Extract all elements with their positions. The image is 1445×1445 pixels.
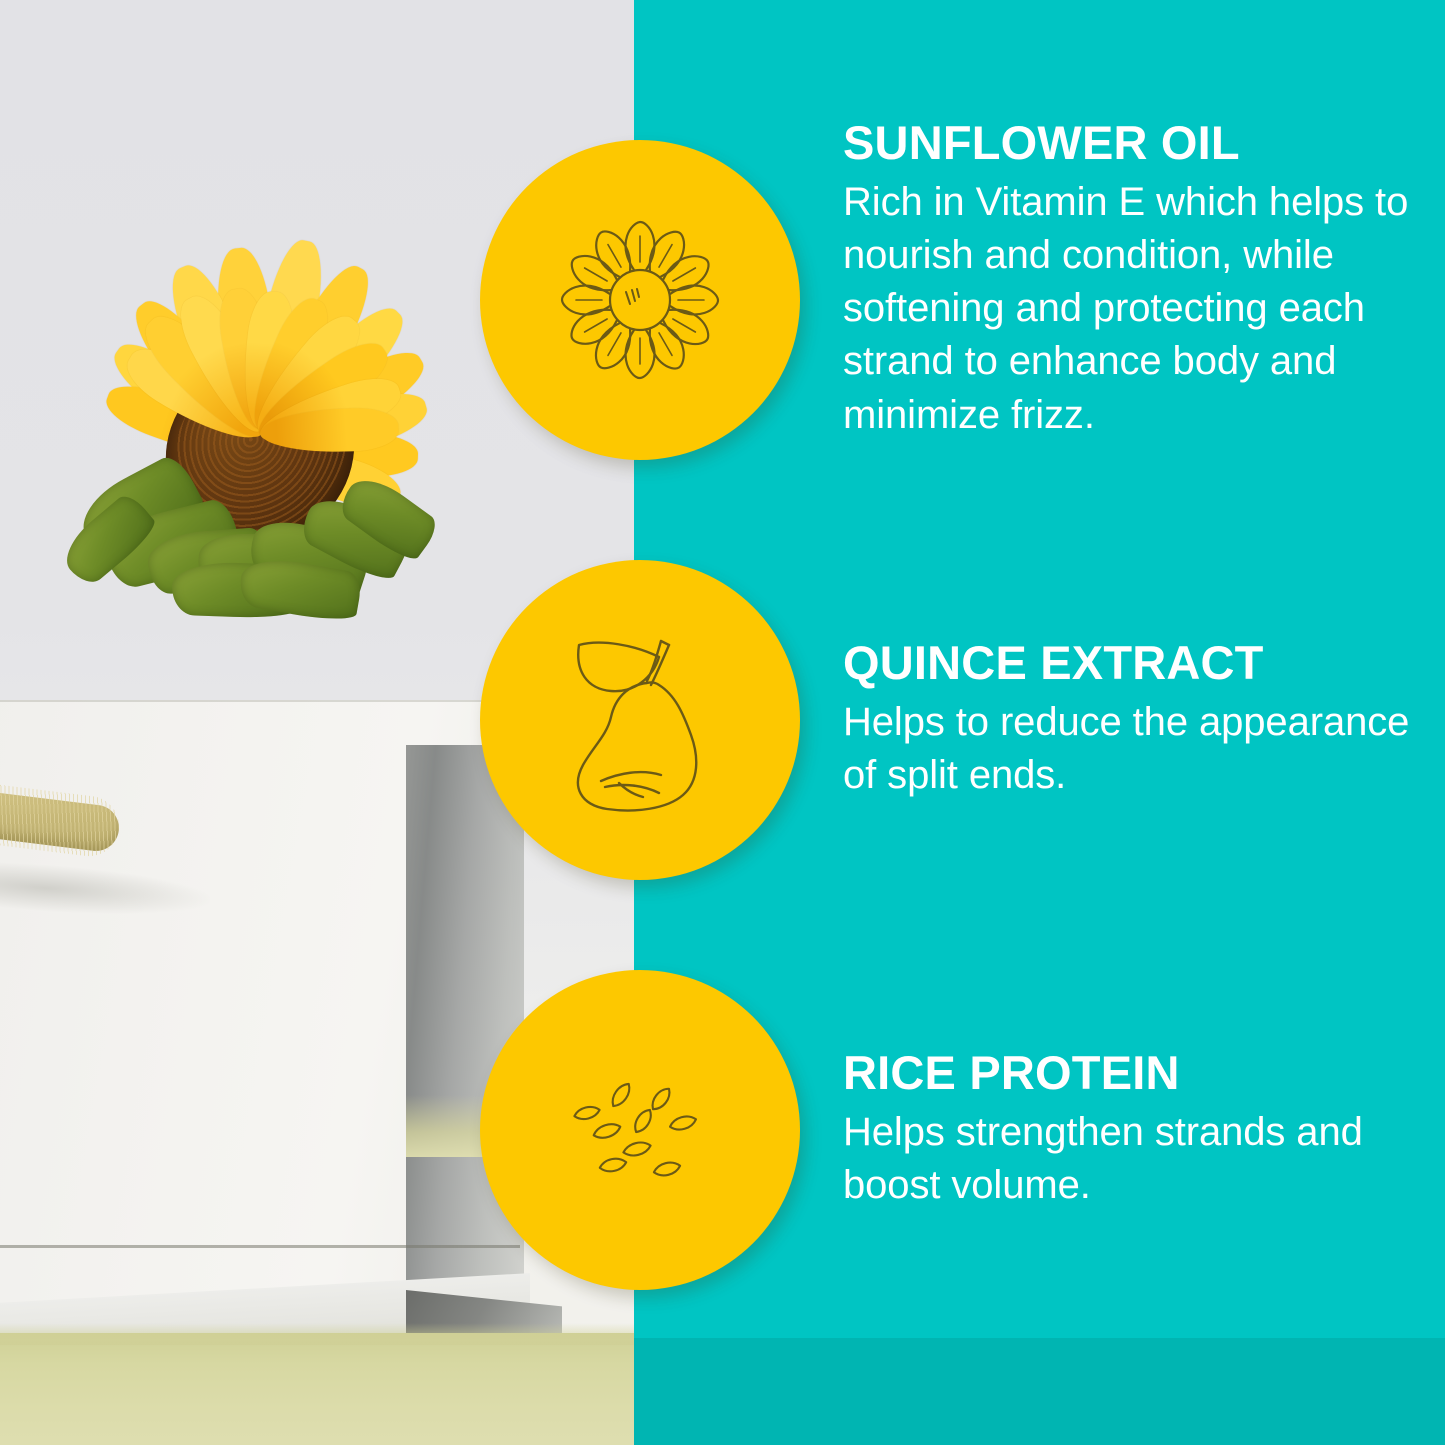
olive-floor-surface <box>0 1333 634 1445</box>
infographic-canvas: SUNFLOWER OIL Rich in Vitamin E which he… <box>0 0 1445 1445</box>
ingredient-text-quince: QUINCE EXTRACT Helps to reduce the appea… <box>843 638 1418 802</box>
pear-icon <box>535 615 745 825</box>
ingredient-badge-sunflower <box>480 140 800 460</box>
ingredient-description: Helps to reduce the appearance of split … <box>843 696 1418 802</box>
ingredient-text-sunflower: SUNFLOWER OIL Rich in Vitamin E which he… <box>843 118 1418 442</box>
teal-panel-bottom-band <box>634 1338 1445 1445</box>
ingredient-description: Helps strengthen strands and boost volum… <box>843 1106 1418 1212</box>
ingredient-badge-rice <box>480 970 800 1290</box>
rice-grains-icon <box>555 1065 725 1195</box>
acrylic-block-side-face <box>406 745 524 1305</box>
ingredient-description: Rich in Vitamin E which helps to nourish… <box>843 176 1418 442</box>
ingredient-badge-quince <box>480 560 800 880</box>
ingredient-text-rice: RICE PROTEIN Helps strengthen strands an… <box>843 1048 1418 1212</box>
sunflower-icon <box>540 200 740 400</box>
ingredient-heading: QUINCE EXTRACT <box>843 638 1418 688</box>
ingredient-heading: RICE PROTEIN <box>843 1048 1418 1098</box>
acrylic-block-edge <box>0 1245 520 1248</box>
ingredient-heading: SUNFLOWER OIL <box>843 118 1418 168</box>
